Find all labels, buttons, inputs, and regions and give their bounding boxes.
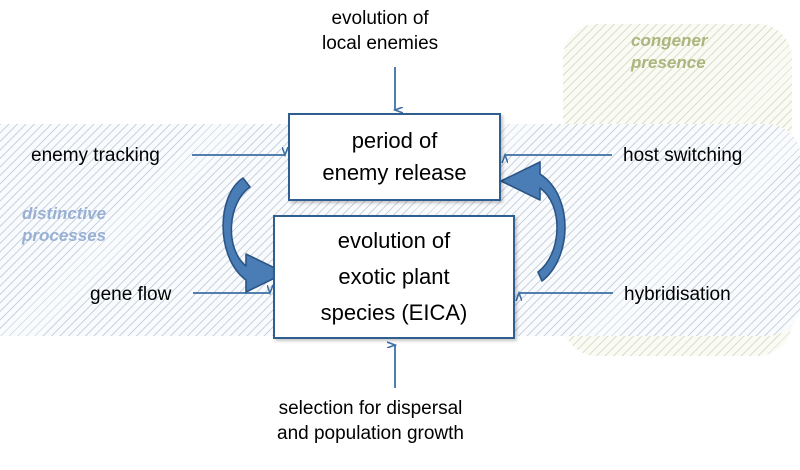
region-distinctive-processes-label: distinctive processes	[22, 203, 106, 247]
region-congener-presence-label: congener presence	[631, 30, 708, 74]
label-gene-flow: gene flow	[90, 282, 171, 307]
node-period-of-enemy-release[interactable]: period of enemy release	[288, 113, 501, 201]
label-hybridisation: hybridisation	[624, 282, 731, 307]
label-selection-for-dispersal-and-population-growth: selection for dispersal and population g…	[277, 396, 464, 446]
diagram-canvas: congener presence distinctive processes	[0, 0, 800, 470]
label-enemy-tracking: enemy tracking	[31, 143, 160, 168]
label-evolution-of-local-enemies: evolution of local enemies	[322, 6, 438, 56]
label-host-switching: host switching	[623, 143, 742, 168]
node-evolution-of-exotic-plant-species-eica[interactable]: evolution of exotic plant species (EICA)	[273, 215, 515, 339]
